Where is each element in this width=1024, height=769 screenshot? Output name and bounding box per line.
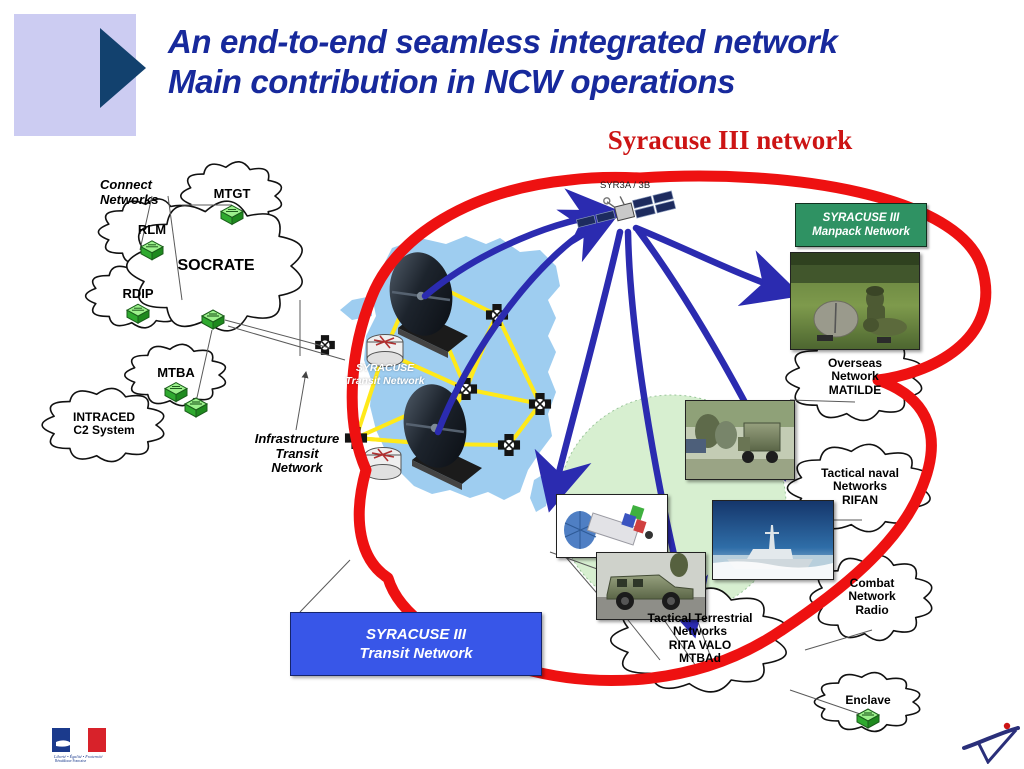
manpack-network-box: SYRACUSE III Manpack Network	[795, 203, 927, 247]
french-republic-logo: Liberté • Égalité • Fraternité Républiqu…	[52, 728, 112, 762]
ground-station-photo	[556, 494, 668, 558]
manpack-photo	[790, 252, 920, 350]
map-transit-overlay: SYRACUSE Transit Network	[332, 362, 438, 387]
manpack-box-line1: SYRACUSE III	[823, 212, 900, 224]
transit-box-line1: SYRACUSE III	[366, 626, 466, 643]
transit-network-box: SYRACUSE III Transit Network	[290, 612, 542, 676]
corner-brand-logo	[962, 718, 1020, 764]
vab-photo	[596, 552, 706, 620]
transit-box-line2: Transit Network	[359, 645, 472, 662]
shelter-photo	[685, 400, 795, 480]
network-cloud-intraced	[42, 388, 164, 461]
slide-canvas: An end-to-end seamless integrated networ…	[0, 0, 1024, 768]
svg-text:République Française: République Française	[55, 759, 87, 762]
frigate-photo	[712, 500, 834, 580]
map-overlay-line1: SYRACUSE	[332, 362, 438, 375]
satellite-label: SYR3A / 3B	[600, 180, 650, 191]
map-overlay-line2: Transit Network	[332, 375, 438, 388]
manpack-box-line2: Manpack Network	[812, 226, 910, 238]
